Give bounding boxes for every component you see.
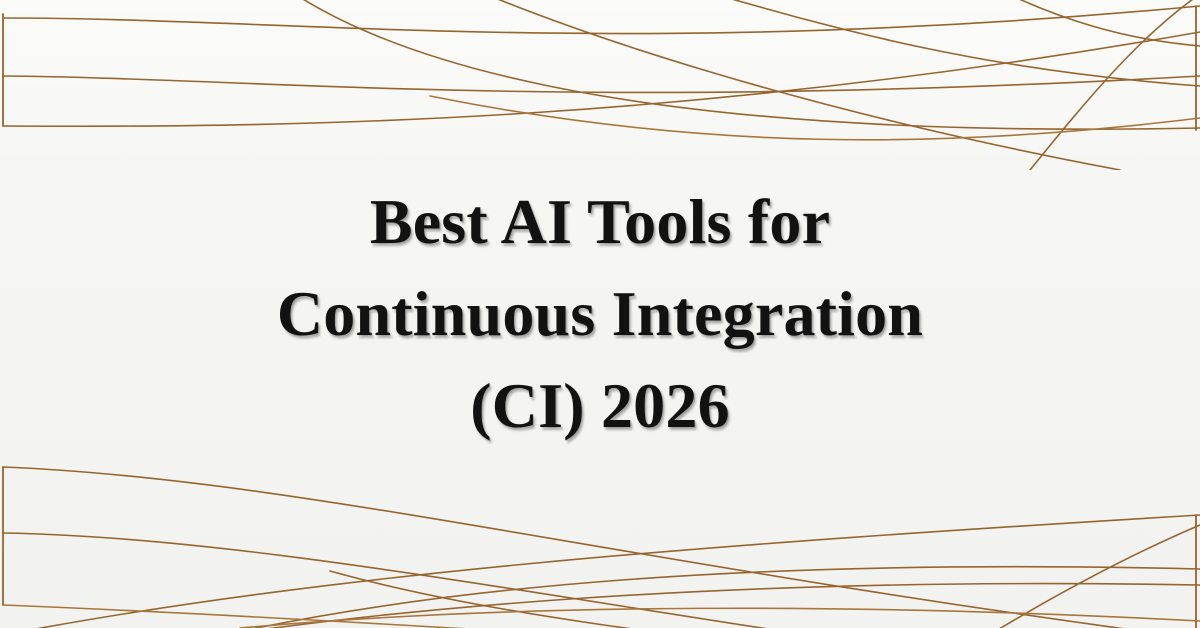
title-block: Best AI Tools for Continuous Integration…	[0, 0, 1200, 628]
title-line-1: Best AI Tools for	[370, 176, 830, 268]
title-line-2: Continuous Integration	[277, 268, 923, 360]
title-line-3: (CI) 2026	[470, 360, 730, 452]
banner-canvas: Best AI Tools for Continuous Integration…	[0, 0, 1200, 628]
